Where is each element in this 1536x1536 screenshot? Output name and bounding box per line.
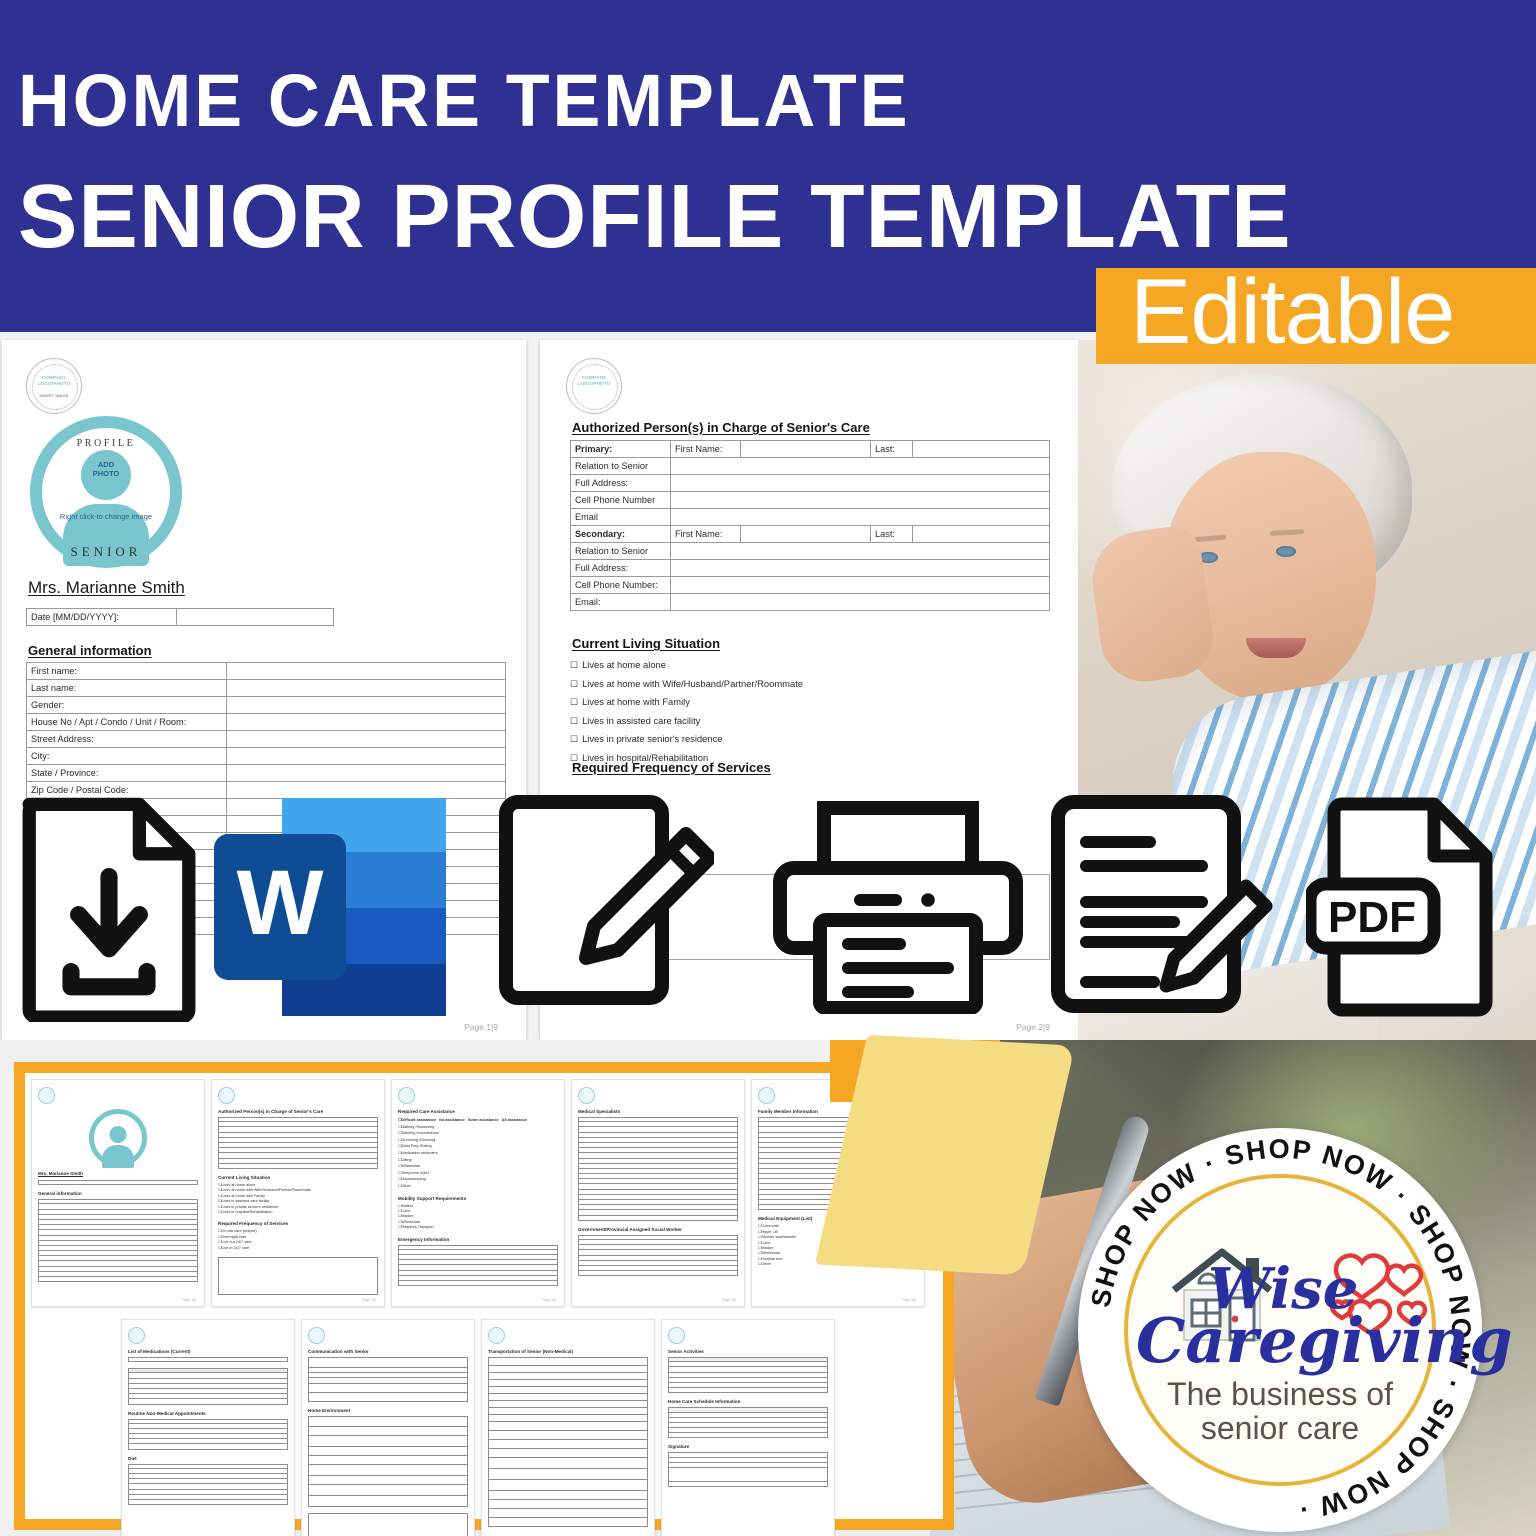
right-click-hint: Right click-to change image [41,512,171,521]
brand-tagline-line-1: The business of [1078,1376,1482,1413]
field-label: First name: [27,663,227,680]
thumb-profile-circle [89,1109,147,1167]
auth-field-input[interactable] [671,509,1050,526]
date-field-table[interactable]: Date [MM/DD/YYYY]: [26,608,334,626]
thumb-logo-stamp [668,1327,685,1344]
thumb-matrix: Difficult assistance No assistance Some … [398,1117,558,1190]
thumb-table [218,1117,378,1169]
thumb-logo-stamp [758,1087,775,1104]
company-logo-stamp-text: COMPANYLOGO/PHOTO [27,375,81,387]
auth-field-input[interactable] [671,560,1050,577]
auth-firstname-input[interactable] [741,526,871,543]
thumb-table [578,1117,738,1221]
thumb-subsection-title: Mobility Support Requirements [398,1196,558,1201]
senior-name-heading: Mrs. Marianne Smith [28,578,185,598]
auth-field-input[interactable] [671,577,1050,594]
thumb-table [668,1452,828,1487]
auth-field-label: Cell Phone Number: [571,577,671,594]
thumb-section-title: Medical Specialists [578,1109,738,1114]
thumb-notes-box [218,1257,378,1295]
field-label: Street Address: [27,731,227,748]
thumb-logo-stamp [398,1087,415,1104]
thumb-subsection-title: Diet [128,1456,288,1461]
thumb-logo-stamp [308,1327,325,1344]
file-format-icon-strip: W PDF [0,782,1536,1040]
auth-last-input[interactable] [913,441,1050,458]
field-label: House No / Apt / Condo / Unit / Room: [27,714,227,731]
company-logo-stamp-text: COMPANYLOGO/PHOTO [567,375,621,387]
thumb-section-title: Transportation of Senior (Non-Medical) [488,1349,648,1354]
auth-primary-label: Primary: [571,441,671,458]
thumb-checklist: On call care (respite) Overnight care Li… [218,1229,378,1251]
profile-word-top: PROFILE [30,438,182,449]
field-input[interactable] [227,731,506,748]
photo-eye-right [1276,546,1296,557]
thumb-table [128,1368,288,1404]
thumb-checklist: Lives at home alone Lives at home with W… [218,1183,378,1215]
thumb-footer: Page 3|9 [542,1298,556,1302]
thumb-table [578,1235,738,1277]
living-situation-heading: Current Living Situation [572,636,720,651]
brand-tagline-line-2: senior care [1078,1410,1482,1447]
thumb-section-title: Required Care Assistance [398,1109,558,1114]
thumb-table [668,1357,828,1393]
header-title-primary: HOME CARE TEMPLATE [18,64,910,138]
thumb-date-row [38,1180,198,1185]
field-label: Gender: [27,697,227,714]
thumb-table [128,1419,288,1450]
field-input[interactable] [227,680,506,697]
thumb-subsection-title: Home Environment [308,1408,468,1413]
thumb-logo-stamp [578,1087,595,1104]
add-photo-label: ADDPHOTO [81,460,131,478]
thumb-table [128,1357,288,1362]
svg-text:PDF: PDF [1328,893,1416,942]
field-input[interactable] [227,697,506,714]
general-information-heading: General information [28,643,152,658]
thumbnail-page-9[interactable]: Senior Activities Home Care Schedule Inf… [661,1319,835,1536]
living-option[interactable]: Lives at home with Wife/Husband/Partner/… [570,675,803,694]
thumbnail-page-1[interactable]: Mrs. Marianne Smith General information … [31,1079,205,1307]
auth-field-input[interactable] [671,492,1050,509]
thumb-subsection-title: Emergency Information [398,1237,558,1242]
thumbnail-row-1: Mrs. Marianne Smith General information … [31,1079,925,1307]
thumb-table [128,1464,288,1506]
thumb-footer: Page 1|9 [182,1298,196,1302]
field-input[interactable] [227,748,506,765]
thumb-logo-stamp [488,1327,505,1344]
auth-field-label: Relation to Senior [571,458,671,475]
thumb-subsection-title: Current Living Situation [218,1175,378,1180]
thumb-footer: Page 5|9 [902,1298,916,1302]
service-frequency-heading: Required Frequency of Services [572,760,771,775]
thumb-section-title: General information [38,1191,198,1196]
document-signature-icon [1046,790,1276,1018]
download-file-icon [14,792,204,1022]
thumb-senior-name: Mrs. Marianne Smith [38,1171,198,1176]
auth-field-input[interactable] [671,458,1050,475]
thumbnail-row-2: List of Medications (Current) Routine No… [121,1319,835,1536]
date-field-input[interactable] [177,609,334,626]
thumb-subsection-title: Signature [668,1444,828,1449]
authorized-persons-table[interactable]: Primary: First Name: Last: Relation to S… [570,440,1050,611]
date-field-label: Date [MM/DD/YYYY]: [27,609,177,626]
thumb-table [398,1245,558,1287]
thumb-table [488,1357,648,1527]
thumb-checklist: WalkerCaneWalkerWheelchairRequires Trans… [398,1204,558,1231]
auth-field-label: Relation to Senior [571,543,671,560]
document-edit-pencil-icon [494,790,714,1016]
thumbnail-page-7[interactable]: Communication with Senior Home Environme… [301,1319,475,1536]
thumbnail-page-6[interactable]: List of Medications (Current) Routine No… [121,1319,295,1536]
thumb-logo-stamp [38,1087,55,1104]
thumbnail-page-4[interactable]: Medical Specialists Government/Provincia… [571,1079,745,1307]
auth-firstname-label: First Name: [671,441,741,458]
thumb-section-title: Communication with Senior [308,1349,468,1354]
living-option[interactable]: Lives in assisted care facility [570,712,803,731]
living-situation-options[interactable]: Lives at home alone Lives at home with W… [570,656,803,767]
thumb-logo-stamp [128,1327,145,1344]
company-logo-stamp-sub: INSERT IMAGE [27,393,81,398]
auth-field-label: Cell Phone Number [571,492,671,509]
thumb-subsection-title: Required Frequency of Services [218,1221,378,1226]
auth-field-label: Email [571,509,671,526]
thumb-subsection-title: Government/Provincial Assigned Social Wo… [578,1227,738,1232]
thumb-table [308,1357,468,1402]
thumb-table [38,1199,198,1282]
thumb-logo-stamp [218,1087,235,1104]
auth-last-label: Last: [871,441,913,458]
auth-firstname-label: First Name: [671,526,741,543]
thumb-table [308,1416,468,1507]
auth-field-label: Full Address: [571,475,671,492]
auth-last-input[interactable] [913,526,1050,543]
svg-text:W: W [237,852,324,954]
auth-secondary-label: Secondary: [571,526,671,543]
company-logo-stamp: COMPANYLOGO/PHOTO [566,358,622,414]
editable-badge: Editable [1096,268,1536,364]
thumb-table [668,1407,828,1438]
living-option[interactable]: Lives in private senior's residence [570,730,803,749]
thumb-section-title: Senior Activities [668,1349,828,1354]
auth-field-input[interactable] [671,594,1050,611]
field-input[interactable] [227,663,506,680]
company-logo-stamp: COMPANYLOGO/PHOTO INSERT IMAGE [26,358,82,414]
auth-field-label: Email: [571,594,671,611]
field-label: State / Province: [27,765,227,782]
living-option[interactable]: Lives at home with Family [570,693,803,712]
auth-firstname-input[interactable] [741,441,871,458]
thumbnail-page-8[interactable]: Transportation of Senior (Non-Medical) P… [481,1319,655,1536]
thumb-footer: Page 2|9 [362,1298,376,1302]
field-label: City: [27,748,227,765]
thumb-subsection-title: Routine Non-Medical Appointments [128,1411,288,1416]
field-input[interactable] [227,714,506,731]
thumb-footer: Page 4|9 [722,1298,736,1302]
thumb-subsection-title: Home Care Schedule Information [668,1399,828,1404]
living-option[interactable]: Lives at home alone [570,656,803,675]
thumb-section-title: List of Medications (Current) [128,1349,288,1354]
senior-profile-photo-placeholder[interactable]: PROFILE ADDPHOTO Right click-to change i… [30,416,182,568]
authorized-persons-heading: Authorized Person(s) in Charge of Senior… [572,420,870,435]
brand-name-line-2: Caregiving [1136,1304,1513,1377]
header-title-secondary: SENIOR PROFILE TEMPLATE [18,172,1292,262]
microsoft-word-icon: W [210,794,450,1020]
printer-icon [772,800,1024,1014]
wise-caregiving-logo-badge[interactable]: SHOP NOW · SHOP NOW · SHOP NOW · SHOP NO… [1078,1128,1482,1532]
auth-field-label: Full Address: [571,560,671,577]
thumbnail-page-2[interactable]: Authorized Person(s) in Charge of Senior… [211,1079,385,1307]
editable-badge-label: Editable [1130,264,1454,360]
thumb-section-title: Authorized Person(s) in Charge of Senior… [218,1109,378,1114]
thumb-notes-box [308,1513,468,1536]
thumbnail-frame: Mrs. Marianne Smith General information … [14,1062,954,1530]
auth-last-label: Last: [871,526,913,543]
auth-field-input[interactable] [671,543,1050,560]
auth-field-input[interactable] [671,475,1050,492]
pdf-file-icon: PDF [1306,796,1512,1018]
field-label: Last name: [27,680,227,697]
thumbnail-page-3[interactable]: Required Care Assistance Difficult assis… [391,1079,565,1307]
field-input[interactable] [227,765,506,782]
profile-word-bottom: SENIOR [30,544,182,560]
